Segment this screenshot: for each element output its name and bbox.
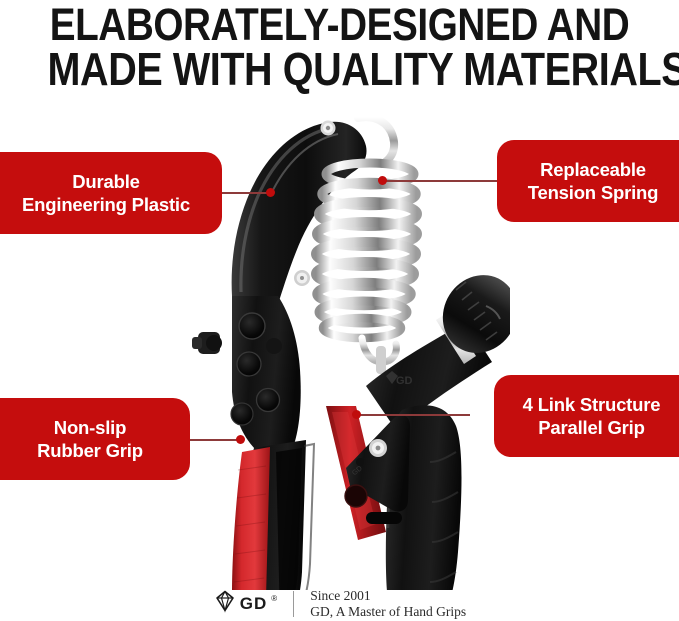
leader-dot-durable: [266, 188, 275, 197]
callout-durable-engineering-plastic[interactable]: Durable Engineering Plastic: [0, 152, 222, 234]
leader-dot-spring: [378, 176, 387, 185]
leader-dot-link: [352, 410, 361, 419]
leader-dot-rubber: [236, 435, 245, 444]
leader-line-link: [356, 414, 470, 416]
callout-durable-line-1: Durable: [72, 170, 139, 193]
tagline-line-2: GD, A Master of Hand Grips: [310, 604, 466, 620]
callout-spring-line-2: Tension Spring: [528, 181, 658, 204]
link-pivot-rivets: [294, 270, 310, 286]
product-image: GD: [180, 100, 510, 590]
callout-spring-line-1: Replaceable: [540, 158, 646, 181]
callout-4-link-structure-parallel-grip[interactable]: 4 Link Structure Parallel Grip: [494, 375, 679, 457]
footer-divider: [293, 591, 294, 617]
logo-wordmark: GD: [240, 594, 268, 614]
footer: GD ® Since 2001 GD, A Master of Hand Gri…: [0, 586, 679, 621]
leader-line-rubber: [190, 439, 242, 441]
callout-non-slip-rubber-grip[interactable]: Non-slip Rubber Grip: [0, 398, 190, 480]
callout-link-line-1: 4 Link Structure: [523, 393, 661, 416]
leader-line-spring: [382, 180, 498, 182]
page-title: ELABORATELY-DESIGNED AND MADE WITH QUALI…: [48, 2, 632, 92]
headline-line-2: MADE WITH QUALITY MATERIALS: [48, 47, 632, 92]
callout-link-line-2: Parallel Grip: [538, 416, 644, 439]
product-infographic: ELABORATELY-DESIGNED AND MADE WITH QUALI…: [0, 0, 679, 621]
headline-line-1: ELABORATELY-DESIGNED AND: [48, 2, 632, 47]
link-pivot-rivets: [321, 121, 336, 136]
svg-text:GD: GD: [396, 375, 413, 387]
side-bolt: [192, 332, 222, 354]
diamond-gem-icon: [213, 589, 237, 618]
callout-rubber-line-1: Non-slip: [54, 416, 126, 439]
callout-replaceable-tension-spring[interactable]: Replaceable Tension Spring: [497, 140, 679, 222]
callout-durable-line-2: Engineering Plastic: [22, 193, 190, 216]
red-rubber-grip: [232, 440, 314, 590]
registered-trademark-icon: ®: [271, 594, 277, 603]
contoured-black-handle: GD: [345, 405, 462, 590]
link-pivot-rivets: [369, 439, 387, 457]
brand-tagline: Since 2001 GD, A Master of Hand Grips: [310, 588, 466, 619]
leader-line-durable: [222, 192, 272, 194]
brand-logo: GD ®: [213, 589, 277, 618]
callout-rubber-line-2: Rubber Grip: [37, 439, 143, 462]
tagline-line-1: Since 2001: [310, 588, 466, 604]
link-pivot-rivets: [356, 458, 364, 466]
